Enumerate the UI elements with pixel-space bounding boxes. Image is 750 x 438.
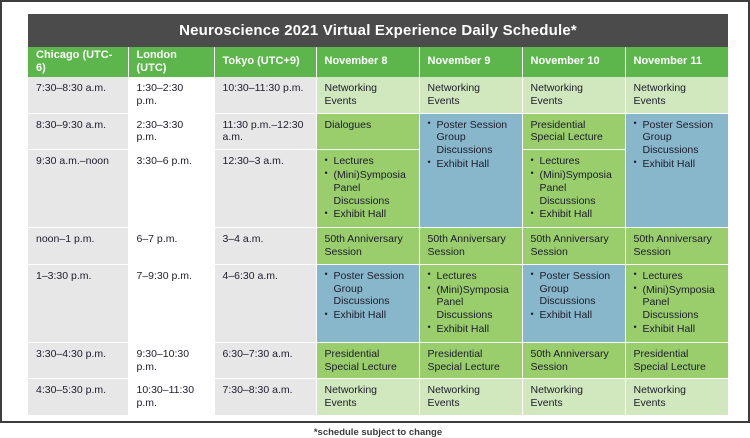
time-cell-tokyo: 6:30–7:30 a.m. bbox=[214, 342, 316, 379]
event-cell-nov9: Poster SessionGroup DiscussionsExhibit H… bbox=[419, 113, 522, 228]
event-text: Networking Events bbox=[325, 384, 412, 410]
schedule-row: 4:30–5:30 p.m.10:30–11:30 p.m.7:30–8:30 … bbox=[28, 379, 728, 416]
event-text: 50th Anniversary bbox=[428, 233, 515, 246]
time-cell-london: 3:30–6 p.m. bbox=[128, 150, 214, 228]
event-list-item: (Mini)SymposiaPanel Discussions bbox=[531, 169, 618, 207]
schedule-row: 1–3:30 p.m.7–9:30 p.m.4–6:30 a.m.Poster … bbox=[28, 264, 728, 342]
event-text: Networking Events bbox=[531, 82, 618, 108]
event-text: Exhibit Hall bbox=[334, 208, 412, 221]
event-cell-nov8: Networking Events bbox=[316, 379, 419, 416]
event-text-block: 50th AnniversarySession bbox=[325, 233, 412, 259]
time-cell-tokyo: 3–4 a.m. bbox=[214, 228, 316, 265]
column-header-london: London (UTC) bbox=[128, 47, 214, 77]
event-text: Session bbox=[531, 246, 618, 259]
event-cell-nov11: PresidentialSpecial Lecture bbox=[625, 342, 728, 379]
event-text-block: Networking Events bbox=[531, 82, 618, 108]
event-text: Panel Discussions bbox=[437, 296, 515, 322]
event-cell-nov10: 50th AnniversarySession bbox=[522, 228, 625, 265]
event-text: Poster Session bbox=[334, 270, 412, 283]
event-text: Lectures bbox=[437, 270, 515, 283]
event-text: Special Lecture bbox=[325, 361, 412, 374]
schedule-inner: Neuroscience 2021 Virtual Experience Dai… bbox=[28, 14, 728, 414]
event-cell-nov9: Networking Events bbox=[419, 379, 522, 416]
event-text-block: Networking Events bbox=[428, 82, 515, 108]
event-text: Panel Discussions bbox=[540, 182, 618, 208]
event-text: Group Discussions bbox=[437, 131, 515, 157]
event-text-block: Networking Events bbox=[531, 384, 618, 410]
event-text: (Mini)Symposia bbox=[334, 169, 412, 182]
schedule-graphic: Neuroscience 2021 Virtual Experience Dai… bbox=[0, 0, 750, 423]
event-text-block: 50th AnniversarySession bbox=[428, 233, 515, 259]
event-list-item: (Mini)SymposiaPanel Discussions bbox=[634, 284, 721, 322]
event-cell-nov9: Lectures(Mini)SymposiaPanel DiscussionsE… bbox=[419, 264, 522, 342]
event-text-block: Networking Events bbox=[325, 82, 412, 108]
event-text: Exhibit Hall bbox=[643, 323, 721, 336]
event-text: Exhibit Hall bbox=[437, 158, 515, 171]
schedule-table: Chicago (UTC-6)London (UTC)Tokyo (UTC+9)… bbox=[28, 47, 729, 416]
event-list-item: Lectures bbox=[428, 270, 515, 283]
event-text: (Mini)Symposia bbox=[437, 284, 515, 297]
event-list: Lectures(Mini)SymposiaPanel DiscussionsE… bbox=[428, 270, 515, 336]
event-list: Lectures(Mini)SymposiaPanel DiscussionsE… bbox=[325, 155, 412, 221]
event-text: Presidential bbox=[428, 348, 515, 361]
event-text: Networking Events bbox=[634, 384, 721, 410]
time-cell-london: 9:30–10:30 p.m. bbox=[128, 342, 214, 379]
event-list: Lectures(Mini)SymposiaPanel DiscussionsE… bbox=[531, 155, 618, 221]
event-list: Lectures(Mini)SymposiaPanel DiscussionsE… bbox=[634, 270, 721, 336]
event-cell-nov10: Poster SessionGroup DiscussionsExhibit H… bbox=[522, 264, 625, 342]
event-list-item: Poster SessionGroup Discussions bbox=[325, 270, 412, 308]
event-cell-nov10: Networking Events bbox=[522, 77, 625, 113]
event-list-item: Exhibit Hall bbox=[531, 208, 618, 221]
event-text: Special Lecture bbox=[634, 361, 721, 374]
schedule-row: 8:30–9:30 a.m.2:30–3:30 p.m.11:30 p.m.–1… bbox=[28, 113, 728, 150]
time-cell-tokyo: 12:30–3 a.m. bbox=[214, 150, 316, 228]
event-text-block: Dialogues bbox=[325, 119, 412, 132]
event-text: Poster Session bbox=[643, 119, 721, 132]
event-list-item: Lectures bbox=[325, 155, 412, 168]
schedule-row: 3:30–4:30 p.m.9:30–10:30 p.m.6:30–7:30 a… bbox=[28, 342, 728, 379]
column-header-nov10: November 10 bbox=[522, 47, 625, 77]
event-text: Dialogues bbox=[325, 119, 412, 132]
schedule-row: 7:30–8:30 a.m.1:30–2:30 p.m.10:30–11:30 … bbox=[28, 77, 728, 113]
schedule-table-body: 7:30–8:30 a.m.1:30–2:30 p.m.10:30–11:30 … bbox=[28, 77, 728, 415]
event-list-item: (Mini)SymposiaPanel Discussions bbox=[428, 284, 515, 322]
header-row: Chicago (UTC-6)London (UTC)Tokyo (UTC+9)… bbox=[28, 47, 728, 77]
time-cell-tokyo: 11:30 p.m.–12:30 a.m. bbox=[214, 113, 316, 150]
event-cell-nov10: Networking Events bbox=[522, 379, 625, 416]
time-cell-london: 2:30–3:30 p.m. bbox=[128, 113, 214, 150]
event-text-block: 50th AnniversarySession bbox=[531, 348, 618, 374]
event-cell-nov8: 50th AnniversarySession bbox=[316, 228, 419, 265]
event-cell-nov10: 50th AnniversarySession bbox=[522, 342, 625, 379]
event-list: Poster SessionGroup DiscussionsExhibit H… bbox=[531, 270, 618, 322]
schedule-row: 9:30 a.m.–noon3:30–6 p.m.12:30–3 a.m.Lec… bbox=[28, 150, 728, 228]
event-text: Exhibit Hall bbox=[437, 323, 515, 336]
event-cell-nov11: Networking Events bbox=[625, 77, 728, 113]
event-cell-nov8: Networking Events bbox=[316, 77, 419, 113]
event-text: Panel Discussions bbox=[334, 182, 412, 208]
event-text: Presidential bbox=[634, 348, 721, 361]
event-text: Networking Events bbox=[325, 82, 412, 108]
event-text: Networking Events bbox=[531, 384, 618, 410]
event-list-item: Poster SessionGroup Discussions bbox=[428, 119, 515, 157]
event-list-item: Poster SessionGroup Discussions bbox=[634, 119, 721, 157]
event-list-item: Exhibit Hall bbox=[634, 323, 721, 336]
column-header-nov9: November 9 bbox=[419, 47, 522, 77]
time-cell-chicago: 8:30–9:30 a.m. bbox=[28, 113, 128, 150]
time-cell-chicago: 1–3:30 p.m. bbox=[28, 264, 128, 342]
event-text-block: PresidentialSpecial Lecture bbox=[634, 348, 721, 374]
event-text: Group Discussions bbox=[540, 283, 618, 309]
event-list-item: Exhibit Hall bbox=[428, 323, 515, 336]
event-cell-nov8: Dialogues bbox=[316, 113, 419, 150]
event-list: Poster SessionGroup DiscussionsExhibit H… bbox=[325, 270, 412, 322]
event-text: Exhibit Hall bbox=[334, 309, 412, 322]
event-text: Exhibit Hall bbox=[643, 158, 721, 171]
event-cell-nov11: Lectures(Mini)SymposiaPanel DiscussionsE… bbox=[625, 264, 728, 342]
event-text: Poster Session bbox=[540, 270, 618, 283]
event-text-block: 50th AnniversarySession bbox=[531, 233, 618, 259]
time-cell-london: 10:30–11:30 p.m. bbox=[128, 379, 214, 416]
event-text: Exhibit Hall bbox=[540, 309, 618, 322]
event-text-block: Networking Events bbox=[325, 384, 412, 410]
column-header-chicago: Chicago (UTC-6) bbox=[28, 47, 128, 77]
event-list-item: Poster SessionGroup Discussions bbox=[531, 270, 618, 308]
event-list-item: Exhibit Hall bbox=[531, 309, 618, 322]
event-text-block: Networking Events bbox=[428, 384, 515, 410]
event-text: Group Discussions bbox=[643, 131, 721, 157]
event-text: Panel Discussions bbox=[643, 296, 721, 322]
event-list-item: Lectures bbox=[531, 155, 618, 168]
event-list: Poster SessionGroup DiscussionsExhibit H… bbox=[634, 119, 721, 171]
event-text: Networking Events bbox=[428, 82, 515, 108]
event-text-block: Networking Events bbox=[634, 82, 721, 108]
event-text: 50th Anniversary bbox=[634, 233, 721, 246]
time-cell-london: 6–7 p.m. bbox=[128, 228, 214, 265]
event-cell-nov8: Poster SessionGroup DiscussionsExhibit H… bbox=[316, 264, 419, 342]
time-cell-london: 7–9:30 p.m. bbox=[128, 264, 214, 342]
event-text: Session bbox=[428, 246, 515, 259]
event-cell-nov11: Poster SessionGroup DiscussionsExhibit H… bbox=[625, 113, 728, 228]
event-list-item: Exhibit Hall bbox=[325, 208, 412, 221]
event-text: 50th Anniversary bbox=[531, 233, 618, 246]
column-header-nov11: November 11 bbox=[625, 47, 728, 77]
time-cell-chicago: 9:30 a.m.–noon bbox=[28, 150, 128, 228]
time-cell-tokyo: 7:30–8:30 a.m. bbox=[214, 379, 316, 416]
time-cell-tokyo: 10:30–11:30 p.m. bbox=[214, 77, 316, 113]
schedule-title: Neuroscience 2021 Virtual Experience Dai… bbox=[28, 14, 728, 47]
event-text-block: PresidentialSpecial Lecture bbox=[428, 348, 515, 374]
event-text: Session bbox=[531, 361, 618, 374]
event-cell-nov9: PresidentialSpecial Lecture bbox=[419, 342, 522, 379]
time-cell-tokyo: 4–6:30 a.m. bbox=[214, 264, 316, 342]
event-cell-nov9: Networking Events bbox=[419, 77, 522, 113]
event-text: Presidential bbox=[531, 119, 618, 132]
event-text: Presidential bbox=[325, 348, 412, 361]
event-cell-nov8: Lectures(Mini)SymposiaPanel DiscussionsE… bbox=[316, 150, 419, 228]
schedule-footnote: *schedule subject to change bbox=[28, 427, 728, 438]
event-cell-nov9: 50th AnniversarySession bbox=[419, 228, 522, 265]
event-text: Special Lecture bbox=[428, 361, 515, 374]
event-text: Networking Events bbox=[428, 384, 515, 410]
time-cell-chicago: 7:30–8:30 a.m. bbox=[28, 77, 128, 113]
event-text: Lectures bbox=[334, 155, 412, 168]
event-text: Lectures bbox=[540, 155, 618, 168]
column-header-nov8: November 8 bbox=[316, 47, 419, 77]
event-list-item: Exhibit Hall bbox=[325, 309, 412, 322]
event-list-item: Exhibit Hall bbox=[428, 158, 515, 171]
time-cell-chicago: 3:30–4:30 p.m. bbox=[28, 342, 128, 379]
event-text-block: 50th AnniversarySession bbox=[634, 233, 721, 259]
event-text: Networking Events bbox=[634, 82, 721, 108]
event-cell-nov10: PresidentialSpecial Lecture bbox=[522, 113, 625, 150]
event-cell-nov10: Lectures(Mini)SymposiaPanel DiscussionsE… bbox=[522, 150, 625, 228]
event-text-block: PresidentialSpecial Lecture bbox=[531, 119, 618, 145]
schedule-table-head: Chicago (UTC-6)London (UTC)Tokyo (UTC+9)… bbox=[28, 47, 728, 77]
event-text: Session bbox=[634, 246, 721, 259]
event-text: (Mini)Symposia bbox=[643, 284, 721, 297]
event-text: Special Lecture bbox=[531, 131, 618, 144]
event-text: Lectures bbox=[643, 270, 721, 283]
event-text: (Mini)Symposia bbox=[540, 169, 618, 182]
event-cell-nov11: Networking Events bbox=[625, 379, 728, 416]
column-header-tokyo: Tokyo (UTC+9) bbox=[214, 47, 316, 77]
event-text: Poster Session bbox=[437, 119, 515, 132]
event-text: Exhibit Hall bbox=[540, 208, 618, 221]
time-cell-london: 1:30–2:30 p.m. bbox=[128, 77, 214, 113]
event-text: Group Discussions bbox=[334, 283, 412, 309]
event-text-block: PresidentialSpecial Lecture bbox=[325, 348, 412, 374]
event-list: Poster SessionGroup DiscussionsExhibit H… bbox=[428, 119, 515, 171]
event-text: 50th Anniversary bbox=[531, 348, 618, 361]
time-cell-chicago: 4:30–5:30 p.m. bbox=[28, 379, 128, 416]
event-cell-nov11: 50th AnniversarySession bbox=[625, 228, 728, 265]
event-text: 50th Anniversary bbox=[325, 233, 412, 246]
event-text-block: Networking Events bbox=[634, 384, 721, 410]
event-cell-nov8: PresidentialSpecial Lecture bbox=[316, 342, 419, 379]
event-list-item: Exhibit Hall bbox=[634, 158, 721, 171]
event-list-item: Lectures bbox=[634, 270, 721, 283]
schedule-row: noon–1 p.m.6–7 p.m.3–4 a.m.50th Annivers… bbox=[28, 228, 728, 265]
event-text: Session bbox=[325, 246, 412, 259]
time-cell-chicago: noon–1 p.m. bbox=[28, 228, 128, 265]
event-list-item: (Mini)SymposiaPanel Discussions bbox=[325, 169, 412, 207]
